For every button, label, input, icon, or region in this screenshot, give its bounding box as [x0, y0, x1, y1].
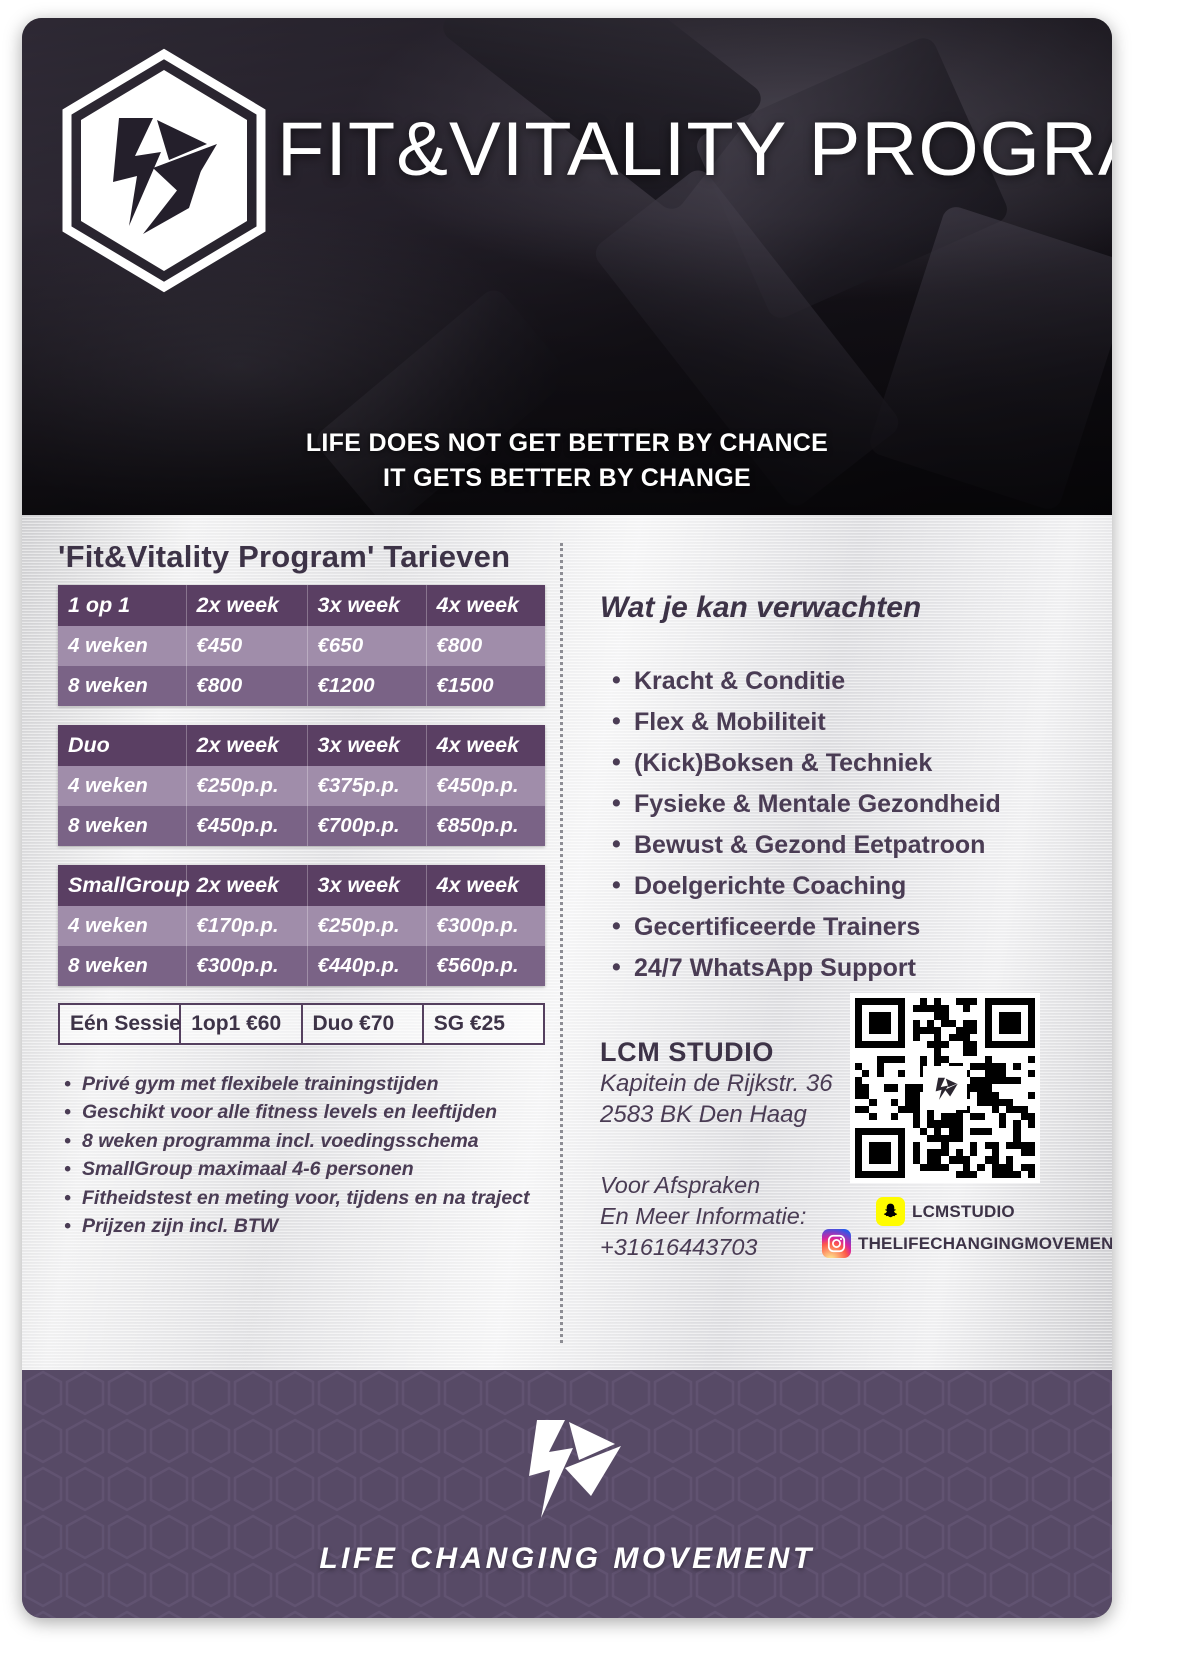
snapchat-link[interactable]: LCMSTUDIO — [876, 1197, 1082, 1226]
lcm-hexagon-logo-icon — [57, 48, 272, 293]
price-cell: €375p.p. — [307, 766, 426, 806]
row-label: 4 weken — [58, 906, 186, 946]
flyer-page: FIT&VITALITY PROGRAM LIFE DOES NOT GET B… — [0, 0, 1179, 1655]
price-cell: €440p.p. — [307, 946, 426, 986]
price-cell: €250p.p. — [307, 906, 426, 946]
table-header-cell: 3x week — [307, 585, 426, 626]
row-label: 8 weken — [58, 946, 186, 986]
studio-info: LCM STUDIO Kapitein de Rijkstr. 36 2583 … — [600, 1037, 833, 1130]
table-row: 4 weken €450 €650 €800 — [58, 626, 545, 666]
single-session-price: Duo €70 — [302, 1004, 423, 1044]
table-row: 4 weken €170p.p. €250p.p. €300p.p. — [58, 906, 545, 946]
table-header-row: Duo 2x week 3x week 4x week — [58, 725, 545, 766]
price-cell: €850p.p. — [426, 806, 545, 846]
appointment-line-1: Voor Afspraken — [600, 1170, 806, 1201]
table-row: 8 weken €450p.p. €700p.p. €850p.p. — [58, 806, 545, 846]
studio-address-line-1: Kapitein de Rijkstr. 36 — [600, 1068, 833, 1099]
list-item: SmallGroup maximaal 4-6 personen — [62, 1155, 562, 1183]
header-banner: FIT&VITALITY PROGRAM LIFE DOES NOT GET B… — [22, 18, 1112, 515]
table-header-cell: 3x week — [307, 725, 426, 766]
tagline-line-1: LIFE DOES NOT GET BETTER BY CHANCE — [22, 426, 1112, 461]
table-row: 4 weken €250p.p. €375p.p. €450p.p. — [58, 766, 545, 806]
footer-tagline: LIFE CHANGING MOVEMENT — [22, 1542, 1112, 1576]
expect-list: Kracht & Conditie Flex & Mobiliteit (Kic… — [608, 661, 1078, 989]
page-title: FIT&VITALITY PROGRAM — [277, 106, 1093, 193]
instagram-icon — [822, 1229, 851, 1258]
single-session-label: Eén Sessie — [59, 1004, 180, 1044]
table-header-cell: 3x week — [307, 865, 426, 906]
qr-code-icon[interactable] — [850, 993, 1040, 1183]
header-tagline: LIFE DOES NOT GET BETTER BY CHANCE IT GE… — [22, 426, 1112, 495]
price-cell: €250p.p. — [186, 766, 307, 806]
social-links: LCMSTUDIO THELIFECHANGINGMOVEMENT — [822, 1197, 1082, 1261]
list-item: Gecertificeerde Trainers — [608, 907, 1078, 948]
single-session-table: Eén Sessie 1op1 €60 Duo €70 SG €25 — [58, 1003, 545, 1045]
list-item: Bewust & Gezond Eetpatroon — [608, 825, 1078, 866]
row-label: 4 weken — [58, 626, 186, 666]
table-row: Eén Sessie 1op1 €60 Duo €70 SG €25 — [59, 1004, 544, 1044]
list-item: Geschikt voor alle fitness levels en lee… — [62, 1098, 562, 1126]
price-cell: €1500 — [426, 666, 545, 706]
price-cell: €450 — [186, 626, 307, 666]
row-label: 8 weken — [58, 806, 186, 846]
list-item: (Kick)Boksen & Techniek — [608, 743, 1078, 784]
table-row: 8 weken €800 €1200 €1500 — [58, 666, 545, 706]
list-item: Fitheidstest en meting voor, tijdens en … — [62, 1184, 562, 1212]
single-session-price: SG €25 — [423, 1004, 544, 1044]
list-item: Prijzen zijn incl. BTW — [62, 1212, 562, 1240]
table-header-cell: 4x week — [426, 585, 545, 626]
table-header-cell: 4x week — [426, 865, 545, 906]
pricing-section-title: 'Fit&Vitality Program' Tarieven — [58, 539, 510, 575]
price-cell: €300p.p. — [186, 946, 307, 986]
list-item: Kracht & Conditie — [608, 661, 1078, 702]
phone-number[interactable]: +31616443703 — [600, 1232, 806, 1263]
list-item: 24/7 WhatsApp Support — [608, 948, 1078, 989]
table-header-cell: 2x week — [186, 585, 307, 626]
price-cell: €650 — [307, 626, 426, 666]
qr-center-logo-icon — [923, 1066, 967, 1110]
table-row: 8 weken €300p.p. €440p.p. €560p.p. — [58, 946, 545, 986]
snapchat-handle: LCMSTUDIO — [912, 1202, 1015, 1222]
tagline-line-2: IT GETS BETTER BY CHANGE — [22, 461, 1112, 496]
studio-name: LCM STUDIO — [600, 1037, 833, 1068]
table-header-cell: 2x week — [186, 725, 307, 766]
price-cell: €1200 — [307, 666, 426, 706]
instagram-handle: THELIFECHANGINGMOVEMENT — [858, 1234, 1112, 1254]
price-cell: €450p.p. — [426, 766, 545, 806]
table-header-cell: 4x week — [426, 725, 545, 766]
table-header-cell: 1 op 1 — [58, 585, 186, 626]
expect-section-title: Wat je kan verwachten — [600, 591, 921, 625]
table-header-row: 1 op 1 2x week 3x week 4x week — [58, 585, 545, 626]
price-cell: €560p.p. — [426, 946, 545, 986]
price-cell: €450p.p. — [186, 806, 307, 846]
list-item: Flex & Mobiliteit — [608, 702, 1078, 743]
price-cell: €300p.p. — [426, 906, 545, 946]
flyer-card: FIT&VITALITY PROGRAM LIFE DOES NOT GET B… — [22, 18, 1112, 1618]
row-label: 8 weken — [58, 666, 186, 706]
price-cell: €800 — [426, 626, 545, 666]
footer-banner: LIFE CHANGING MOVEMENT — [22, 1370, 1112, 1618]
list-item: Fysieke & Mentale Gezondheid — [608, 784, 1078, 825]
snapchat-icon — [876, 1197, 905, 1226]
lcm-arrow-logo-icon — [507, 1406, 627, 1534]
single-session-price: 1op1 €60 — [180, 1004, 301, 1044]
appointment-line-2: En Meer Informatie: — [600, 1201, 806, 1232]
table-header-row: SmallGroup 2x week 3x week 4x week — [58, 865, 545, 906]
pricing-table-1op1: 1 op 1 2x week 3x week 4x week 4 weken €… — [58, 585, 545, 706]
list-item: Doelgerichte Coaching — [608, 866, 1078, 907]
price-cell: €700p.p. — [307, 806, 426, 846]
table-header-cell: Duo — [58, 725, 186, 766]
appointment-info: Voor Afspraken En Meer Informatie: +3161… — [600, 1170, 806, 1263]
studio-address-line-2: 2583 BK Den Haag — [600, 1099, 833, 1130]
pricing-table-duo: Duo 2x week 3x week 4x week 4 weken €250… — [58, 725, 545, 846]
instagram-link[interactable]: THELIFECHANGINGMOVEMENT — [822, 1229, 1082, 1258]
conditions-list: Privé gym met flexibele trainingstijden … — [62, 1070, 562, 1241]
pricing-table-smallgroup: SmallGroup 2x week 3x week 4x week 4 wek… — [58, 865, 545, 986]
price-cell: €800 — [186, 666, 307, 706]
table-header-cell: 2x week — [186, 865, 307, 906]
content-area: 'Fit&Vitality Program' Tarieven 1 op 1 2… — [22, 515, 1112, 1370]
row-label: 4 weken — [58, 766, 186, 806]
list-item: Privé gym met flexibele trainingstijden — [62, 1070, 562, 1098]
price-cell: €170p.p. — [186, 906, 307, 946]
table-header-cell: SmallGroup — [58, 865, 186, 906]
list-item: 8 weken programma incl. voedingsschema — [62, 1127, 562, 1155]
